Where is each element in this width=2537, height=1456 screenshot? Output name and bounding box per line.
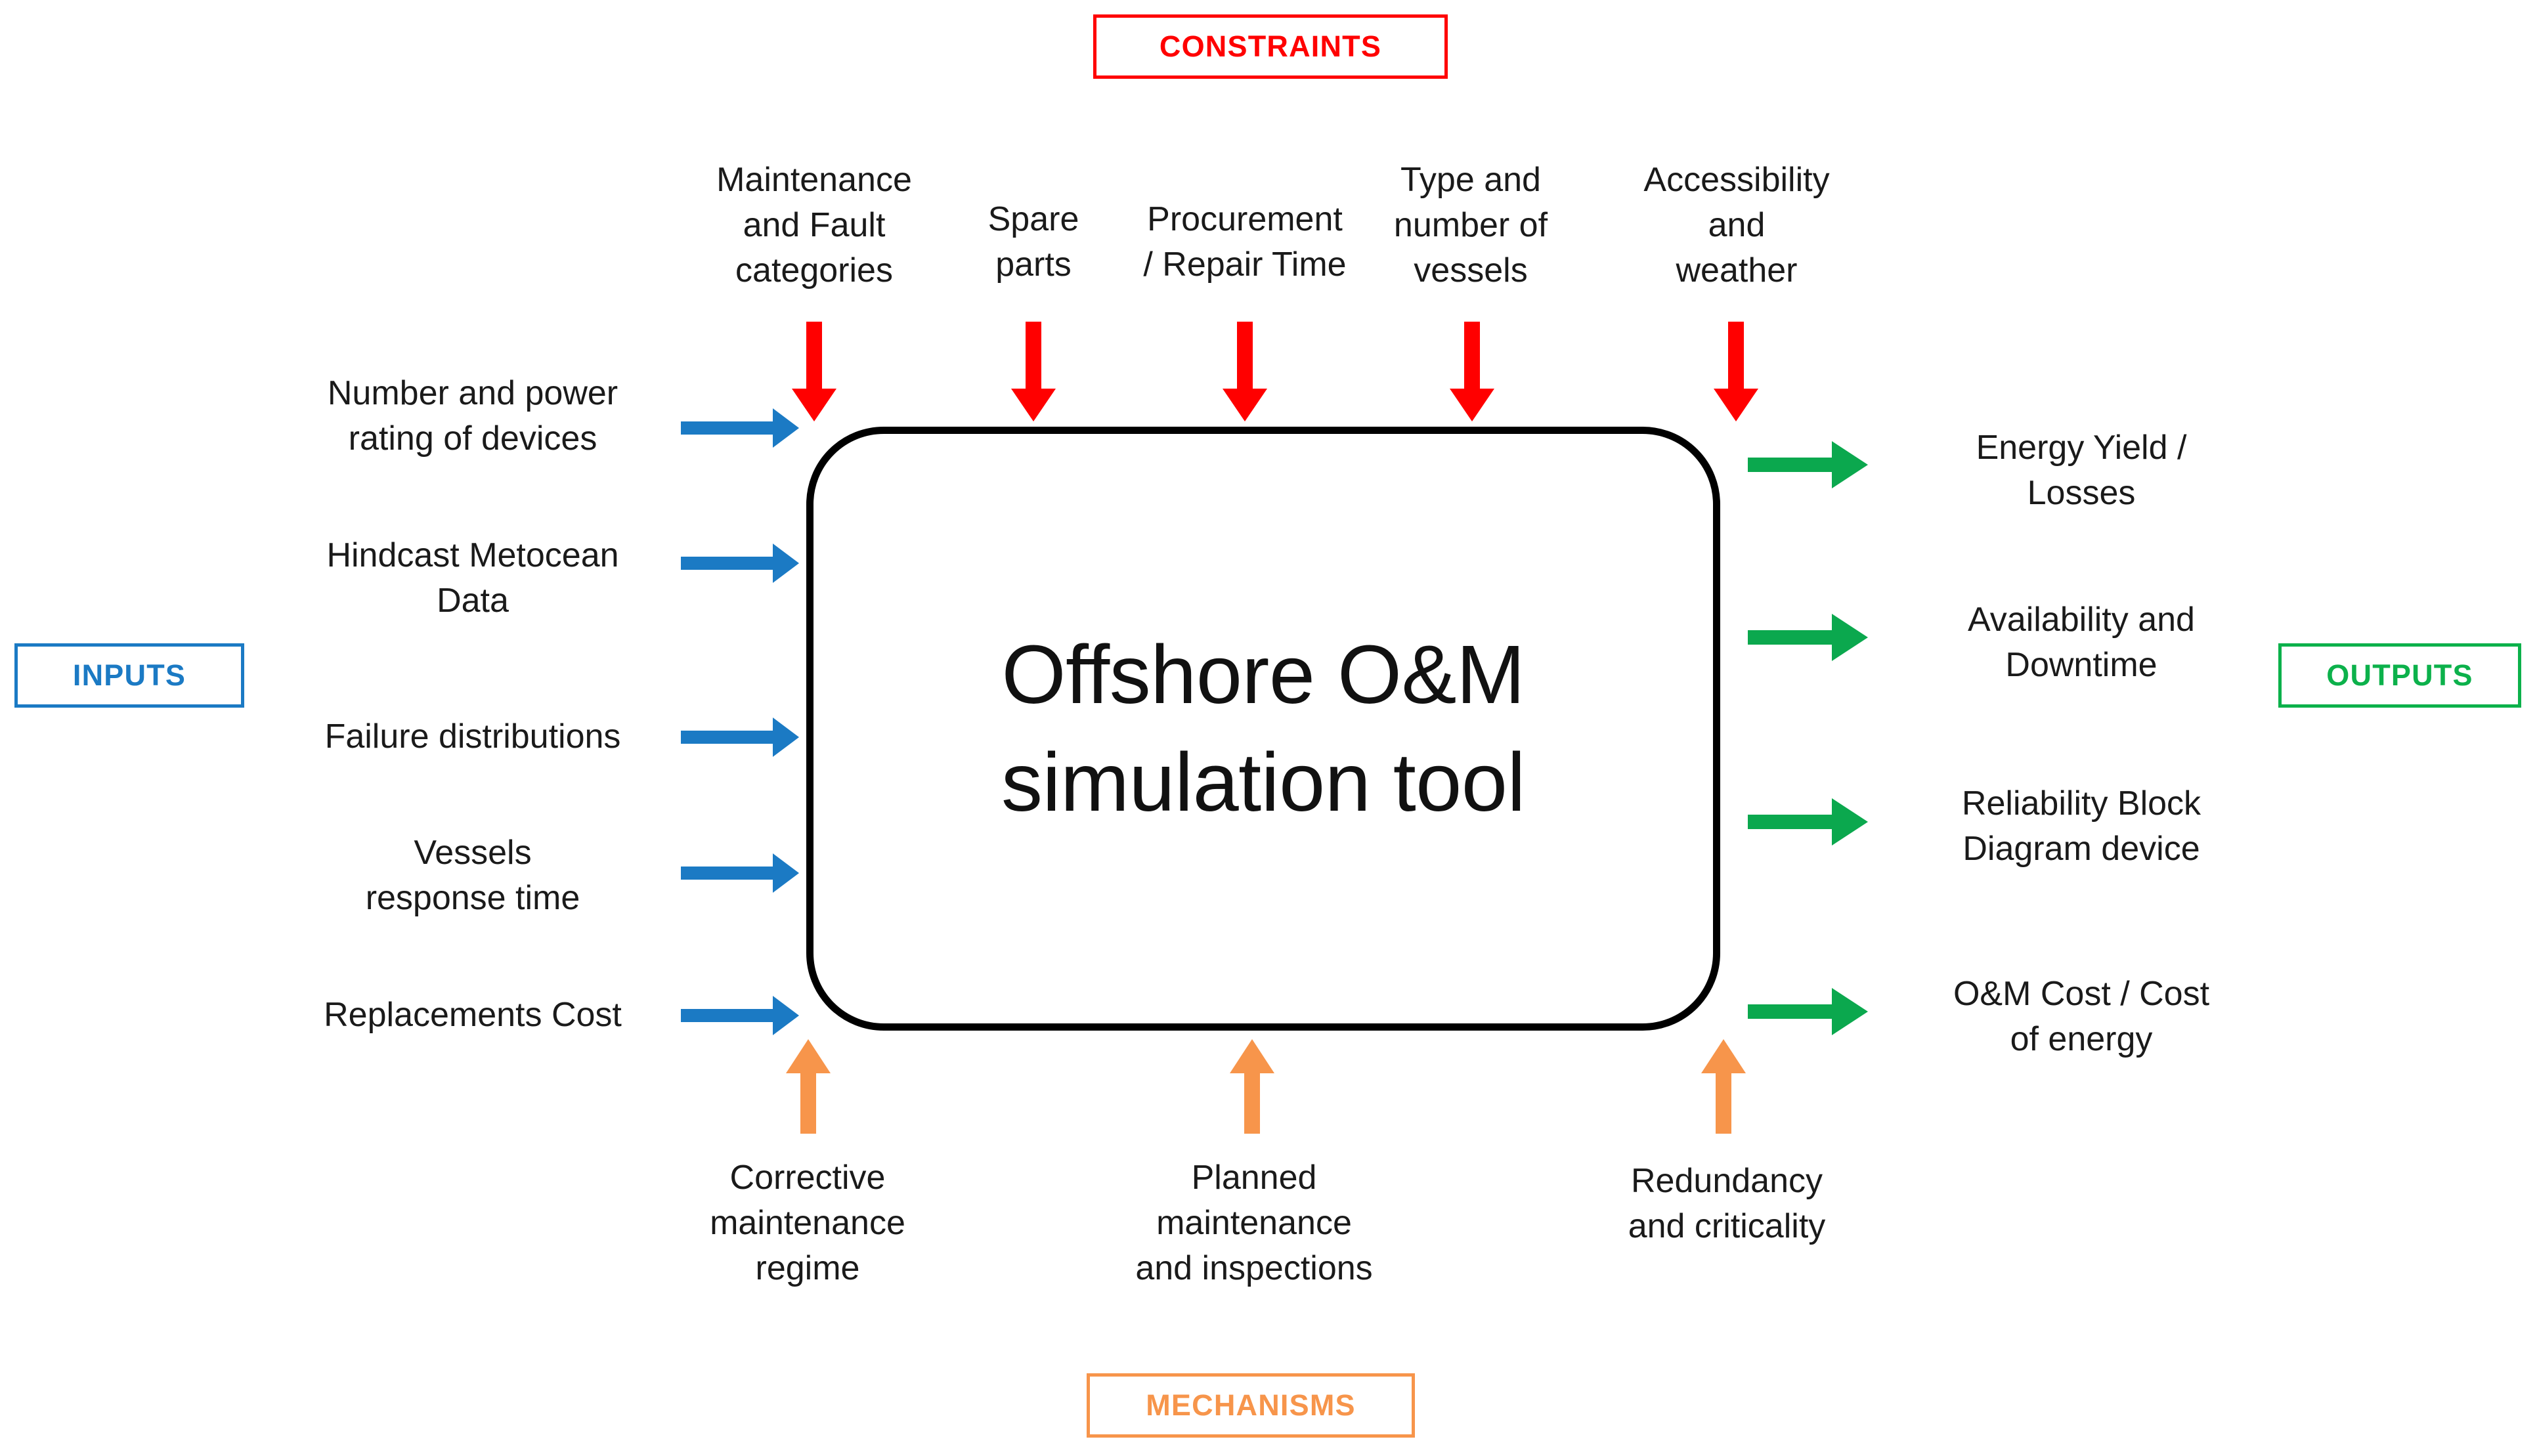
mechanism-arrow-2 [1230, 1039, 1274, 1134]
mechanism-label-3: Redundancy and criticality [1556, 1159, 1897, 1249]
constraint-arrow-2 [1011, 322, 1056, 421]
constraint-label-4: Type and number of vessels [1372, 158, 1569, 293]
output-arrow-2 [1748, 614, 1868, 661]
constraint-label-3: Procurement / Repair Time [1116, 197, 1374, 288]
input-label-5: Replacements Cost [289, 993, 657, 1038]
input-label-3: Failure distributions [289, 714, 657, 760]
mechanism-arrow-3 [1701, 1039, 1746, 1134]
output-label-1: Energy Yield / Losses [1897, 425, 2265, 516]
process-box: Offshore O&M simulation tool [806, 427, 1720, 1031]
constraint-arrows [792, 322, 1758, 421]
category-chip-constraints: CONSTRAINTS [1093, 14, 1448, 79]
constraint-arrow-5 [1714, 322, 1758, 421]
mechanism-arrows [786, 1039, 1746, 1134]
output-label-4: O&M Cost / Cost of energy [1897, 972, 2265, 1062]
input-arrows [681, 408, 799, 1035]
constraint-label-5: Accessibility and weather [1622, 158, 1852, 293]
input-arrow-2 [681, 544, 799, 583]
output-arrows [1748, 441, 1868, 1035]
output-arrow-3 [1748, 798, 1868, 846]
constraint-arrow-3 [1223, 322, 1267, 421]
mechanism-label-2: Planned maintenance and inspections [1083, 1155, 1425, 1291]
input-label-1: Number and power rating of devices [289, 371, 657, 461]
input-label-2: Hindcast Metocean Data [289, 533, 657, 624]
process-title: Offshore O&M simulation tool [1001, 621, 1525, 836]
output-arrow-1 [1748, 441, 1868, 488]
output-label-2: Availability and Downtime [1897, 597, 2265, 688]
category-chip-mechanisms: MECHANISMS [1087, 1373, 1415, 1438]
category-chip-outputs: OUTPUTS [2278, 643, 2521, 708]
input-arrow-4 [681, 853, 799, 893]
output-label-3: Reliability Block Diagram device [1897, 781, 2265, 872]
constraint-arrow-4 [1450, 322, 1494, 421]
constraint-label-1: Maintenance and Fault categories [683, 158, 945, 293]
input-arrow-1 [681, 408, 799, 448]
constraint-label-2: Spare parts [948, 197, 1119, 288]
diagram-canvas: Offshore O&M simulation tool CONSTRAINTS… [0, 0, 2537, 1456]
input-arrow-3 [681, 717, 799, 757]
constraint-arrow-1 [792, 322, 836, 421]
mechanism-arrow-1 [786, 1039, 831, 1134]
mechanism-label-1: Corrective maintenance regime [657, 1155, 959, 1291]
category-chip-inputs: INPUTS [14, 643, 244, 708]
input-arrow-5 [681, 996, 799, 1035]
input-label-4: Vessels response time [289, 830, 657, 921]
output-arrow-4 [1748, 988, 1868, 1035]
